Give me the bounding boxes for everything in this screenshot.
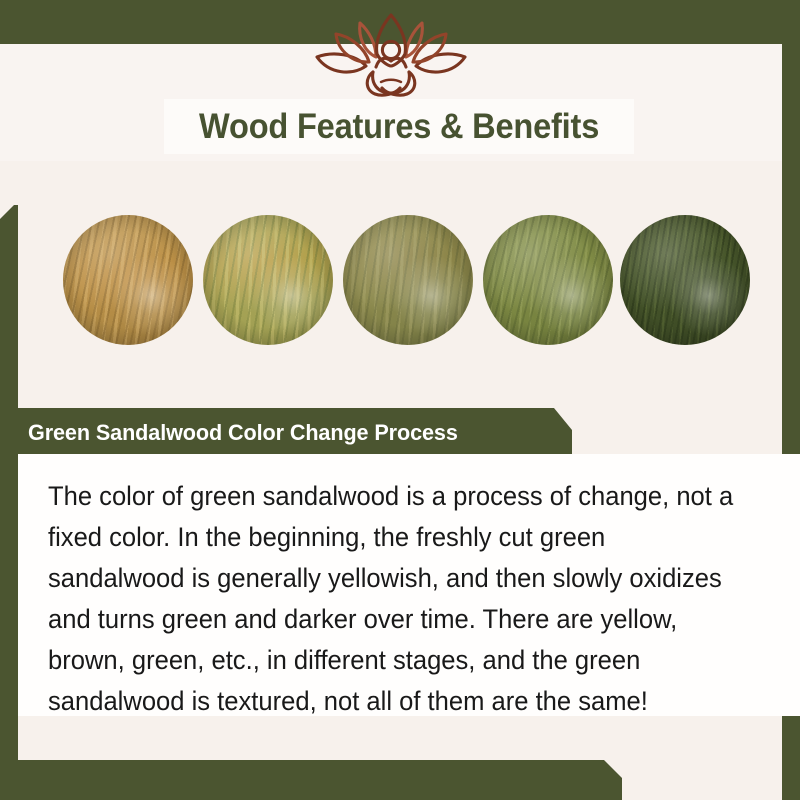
section-banner: Green Sandalwood Color Change Process xyxy=(0,408,572,458)
bead-stage-5-dark-forest-green xyxy=(620,215,750,345)
frame-border-bottom xyxy=(0,760,622,800)
body-text-panel: The color of green sandalwood is a proce… xyxy=(18,454,800,716)
lotus-meditation-icon xyxy=(303,10,479,102)
bead-stage-1-yellow-tan xyxy=(63,215,193,345)
bead-stage-2-yellow-green xyxy=(203,215,333,345)
title-banner: Wood Features & Benefits xyxy=(164,99,634,154)
bead-stage-3-olive-khaki xyxy=(343,215,473,345)
frame-border-left xyxy=(0,205,18,800)
page-title: Wood Features & Benefits xyxy=(199,107,599,147)
bead-gallery xyxy=(18,205,782,410)
bead-stage-4-olive-green xyxy=(483,215,613,345)
section-banner-label: Green Sandalwood Color Change Process xyxy=(28,420,458,446)
body-paragraph: The color of green sandalwood is a proce… xyxy=(48,476,747,722)
infographic-canvas: BUDDHA STONES Wood Features & Benefits xyxy=(0,0,800,800)
